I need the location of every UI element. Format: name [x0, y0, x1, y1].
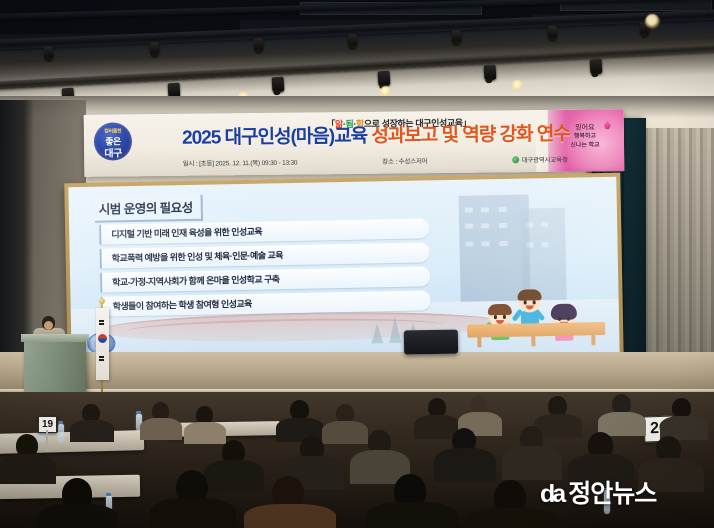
banner-place: 장소 : 수성스저어	[382, 155, 427, 165]
flag-finial	[99, 298, 105, 304]
taegeuk-symbol	[98, 334, 107, 343]
news-watermark-text: 정안뉴스	[568, 482, 656, 507]
ceiling-light	[645, 14, 660, 29]
slide-bullet-item: 학교폭력 예방을 위한 인성 및 체육·인문·예술 교육	[100, 242, 430, 268]
bottle-cap	[106, 493, 111, 496]
logo-bottom-text: 대구	[94, 144, 132, 159]
attendee-shoulders	[204, 460, 264, 492]
attendee-shoulders	[70, 420, 114, 442]
attendee-head	[290, 400, 309, 420]
bottle-cap	[58, 421, 63, 424]
slide-bullet-item: 디지털 기반 미래 인재 육성을 위한 인성교육	[99, 218, 429, 244]
event-banner: 믿어요 행복하고 신나는 학교 컬러풀한 좋은 대구 「앎·됨·함으로 성장하는…	[84, 109, 625, 177]
banner-title-blue: 2025 대구인성(마음)교육	[182, 126, 367, 149]
attendee-shoulders	[184, 422, 226, 444]
education-office-icon	[512, 156, 519, 163]
presenter-face	[44, 321, 53, 330]
child-figure-center	[518, 291, 540, 312]
pa-speaker	[404, 330, 458, 355]
attendee-head	[548, 396, 567, 416]
slide-bullet-list: 디지털 기반 미래 인재 육성을 위한 인성교육 학교폭력 예방을 위한 인성 …	[99, 218, 431, 320]
slide-title: 시범 운영의 필요성	[95, 195, 203, 223]
conference-photograph: 믿어요 행복하고 신나는 학교 컬러풀한 좋은 대구 「앎·됨·함으로 성장하는…	[0, 0, 714, 528]
ceiling-light	[512, 80, 523, 91]
attendee-shoulders	[366, 502, 458, 528]
banner-date: 일시 : [초등] 2025. 12. 11.(목) 09:30 - 13:30	[183, 157, 298, 168]
attendee-shoulders	[434, 448, 496, 482]
attendee-shoulders	[466, 508, 558, 528]
projection-screen-frame: 시범 운영의 필요성 디지털 기반 미래 인재 육성을 위한 인성교육 학교폭력…	[64, 173, 623, 368]
attendee-shoulders	[150, 498, 236, 528]
attendee-shoulders	[38, 504, 118, 528]
attendee-shoulders	[502, 446, 562, 480]
banner-title: 2025 대구인성(마음)교육 성과보고 및 역량 강화 연수	[136, 124, 616, 148]
news-watermark: da 정안뉴스	[540, 482, 656, 507]
bottle-cap	[136, 411, 141, 414]
banner-office-label: 대구광역시교육청	[521, 154, 567, 164]
attendee-head	[672, 398, 691, 418]
attendee-shoulders	[0, 454, 56, 484]
children-illustration	[460, 267, 611, 344]
slide-bullet-item: 학교-가정-지역사회가 함께 온마을 인성학교 구축	[100, 266, 430, 292]
attendee-head	[612, 394, 631, 414]
attendee-shoulders	[322, 421, 368, 444]
school-desk	[467, 322, 605, 338]
korean-flag-icon	[96, 308, 109, 380]
slide-bullet-item: 학생들이 참여하는 학생 참여형 인성교육	[100, 290, 430, 316]
banner-office: 대구광역시교육청	[512, 154, 567, 165]
podium-top	[21, 334, 89, 342]
daegu-city-logo: 컬러풀한 좋은 대구	[94, 122, 132, 160]
projection-screen: 시범 운영의 필요성 디지털 기반 미래 인재 육성을 위한 인성교육 학교폭력…	[68, 177, 619, 363]
banner-title-orange: 성과보고 및 역량 강화 연수	[371, 124, 570, 147]
attendee-shoulders	[244, 504, 336, 528]
water-bottle	[58, 424, 64, 442]
attendee-shoulders	[140, 418, 182, 440]
news-logo-icon: da	[540, 482, 563, 507]
